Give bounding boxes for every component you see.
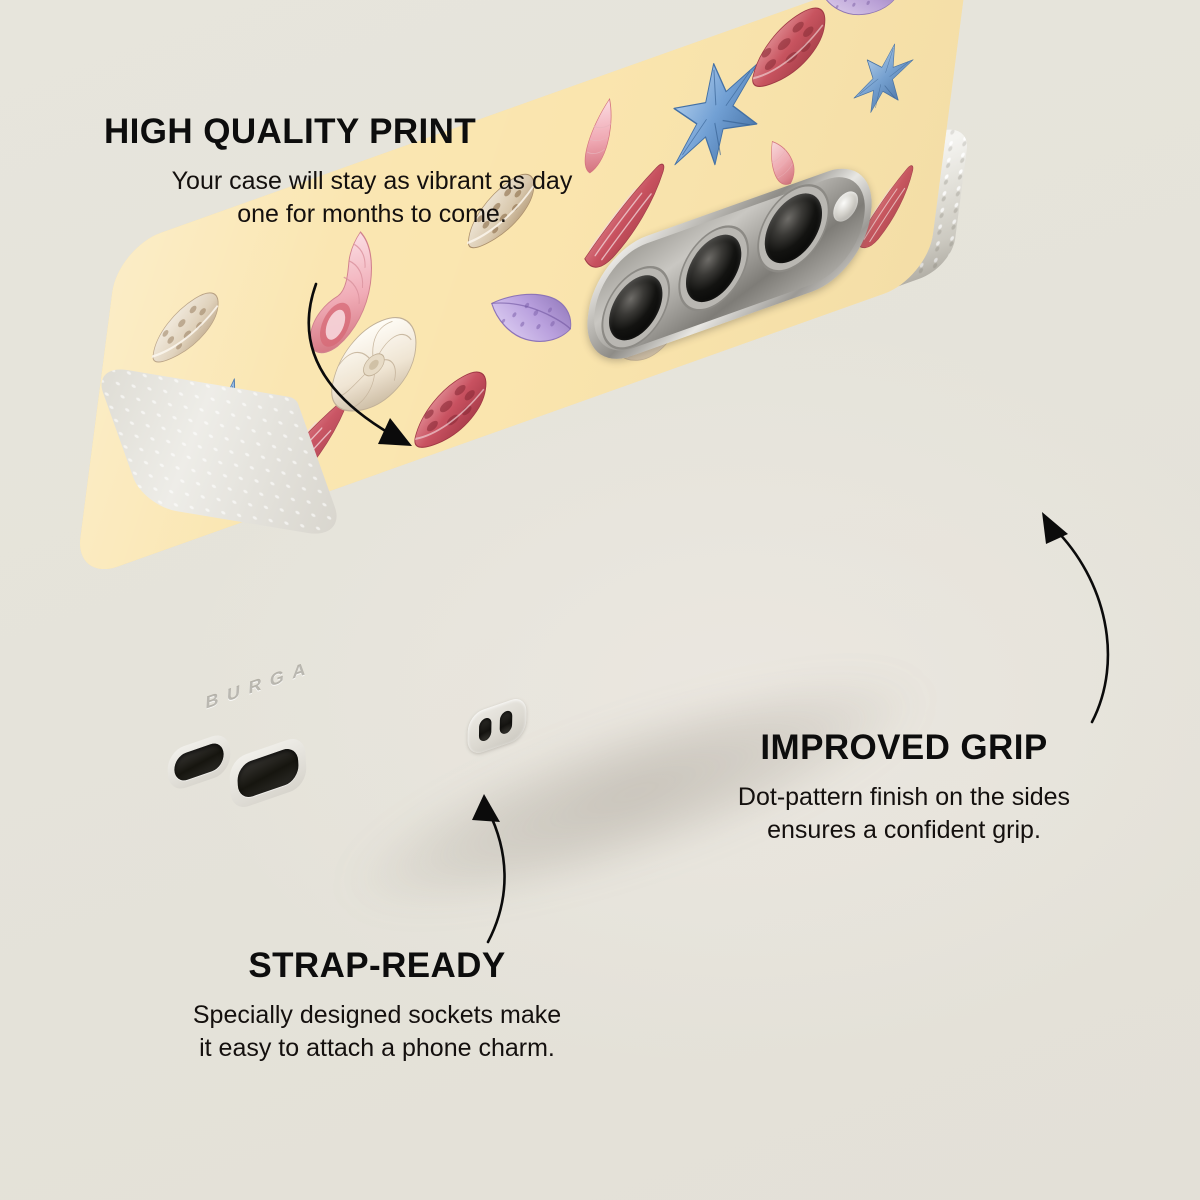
callout-title: STRAP-READY (112, 948, 642, 985)
callout-strap-ready: STRAP-READY Specially designed sockets m… (112, 948, 642, 1066)
callout-body: Your case will stay as vibrant as day on… (88, 165, 648, 232)
strap-socket-hole-1 (479, 716, 492, 743)
callout-body-line-1: Specially designed sockets make (112, 999, 642, 1033)
callout-body-line-2: ensures a confident grip. (684, 814, 1124, 848)
callout-body-line-2: it easy to attach a phone charm. (112, 1032, 642, 1066)
strap-socket-hole-2 (500, 709, 513, 736)
callout-body: Dot-pattern finish on the sides ensures … (684, 781, 1124, 848)
callout-title: HIGH QUALITY PRINT (88, 114, 648, 151)
callout-high-quality-print: HIGH QUALITY PRINT Your case will stay a… (88, 114, 648, 232)
callout-body-line-2: one for months to come. (96, 198, 648, 232)
callout-body-line-1: Your case will stay as vibrant as day (96, 165, 648, 199)
callout-title: IMPROVED GRIP (684, 730, 1124, 767)
callout-body: Specially designed sockets make it easy … (112, 999, 642, 1066)
product-feature-graphic: BURGA HIGH QUALITY PRINT Your case will … (0, 0, 1200, 1200)
callout-body-line-1: Dot-pattern finish on the sides (684, 781, 1124, 815)
callout-improved-grip: IMPROVED GRIP Dot-pattern finish on the … (684, 730, 1124, 848)
